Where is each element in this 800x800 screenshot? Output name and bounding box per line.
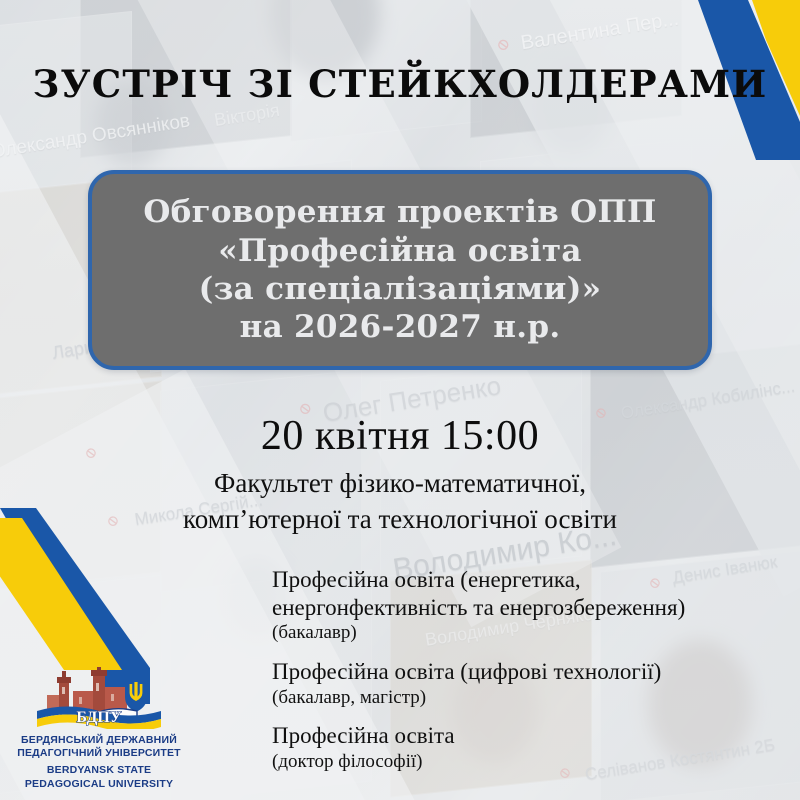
page-title: ЗУСТРІЧ ЗІ СТЕЙКХОЛДЕРАМИ xyxy=(0,62,800,106)
program-list: Професійна освіта (енергетика, енергонфе… xyxy=(272,566,788,787)
logo-text-ukrainian: БЕРДЯНСЬКИЙ ДЕРЖАВНИЙ ПЕДАГОГІЧНИЙ УНІВЕ… xyxy=(6,734,192,762)
title-card-line-2: «Професійна освіта xyxy=(218,232,581,270)
logo-ua-line-2: ПЕДАГОГІЧНИЙ УНІВЕРСИТЕТ xyxy=(6,747,192,761)
program-degree-level: (доктор філософії) xyxy=(272,750,788,774)
logo-ua-line-1: БЕРДЯНСЬКИЙ ДЕРЖАВНИЙ xyxy=(6,734,192,748)
university-logo: БДПУ БЕРДЯНСЬКИЙ ДЕРЖАВНИЙ ПЕДАГОГІЧНИЙ … xyxy=(6,667,192,792)
logo-en-line-1: BERDYANSK STATE xyxy=(6,764,192,778)
program-name-line-1: Професійна освіта (цифрові технології) xyxy=(272,658,788,686)
program-name-line-1: Професійна освіта (енергетика, xyxy=(272,566,788,594)
title-card-line-4: на 2026-2027 н.р. xyxy=(240,308,561,346)
program-item: Професійна освіта (доктор філософії) xyxy=(272,722,788,773)
program-degree-level: (бакалавр) xyxy=(272,621,788,645)
emblem-letters: БДПУ xyxy=(76,709,121,726)
poster-canvas: Валентина Пер... Олександр Овсянніков Ві… xyxy=(0,0,800,800)
title-card-line-3: (за спеціалізаціями)» xyxy=(199,270,602,308)
faculty-line-1: Факультет фізико-математичної, xyxy=(0,466,800,502)
program-name-line-2: енергонфективність та енергозбереження) xyxy=(272,594,788,622)
program-item: Професійна освіта (енергетика, енергонфе… xyxy=(272,566,788,645)
logo-en-line-2: PEDAGOGICAL UNIVERSITY xyxy=(6,778,192,792)
event-datetime: 20 квітня 15:00 xyxy=(0,412,800,460)
title-card: Обговорення проектів ОПП «Професійна осв… xyxy=(88,170,712,370)
logo-text-english: BERDYANSK STATE PEDAGOGICAL UNIVERSITY xyxy=(6,764,192,792)
program-item: Професійна освіта (цифрові технології) (… xyxy=(272,658,788,709)
event-faculty: Факультет фізико-математичної, комп’ютер… xyxy=(0,466,800,537)
title-card-line-1: Обговорення проектів ОПП xyxy=(143,193,656,231)
university-emblem-icon: БДПУ xyxy=(35,667,163,729)
faculty-line-2: комп’ютерної та технологічної освіти xyxy=(0,502,800,538)
program-name-line-1: Професійна освіта xyxy=(272,722,788,750)
program-degree-level: (бакалавр, магістр) xyxy=(272,686,788,710)
